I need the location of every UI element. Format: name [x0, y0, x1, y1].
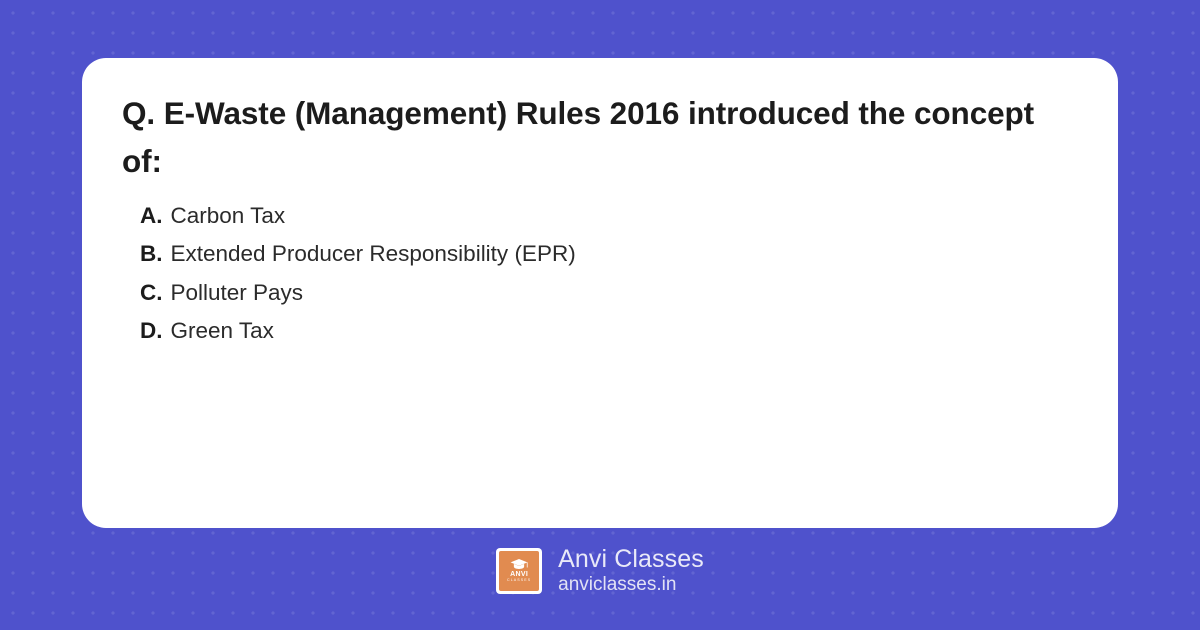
footer-branding: ANVI CLASSES Anvi Classes anviclasses.in	[0, 545, 1200, 597]
brand-name: Anvi Classes	[558, 545, 704, 573]
option-item-a[interactable]: A. Carbon Tax	[122, 200, 1078, 232]
brand-text-block: Anvi Classes anviclasses.in	[558, 545, 704, 597]
option-text-a: Carbon Tax	[171, 200, 286, 232]
question-text: Q. E-Waste (Management) Rules 2016 intro…	[122, 90, 1078, 186]
option-text-b: Extended Producer Responsibility (EPR)	[171, 238, 576, 270]
option-item-b[interactable]: B. Extended Producer Responsibility (EPR…	[122, 238, 1078, 270]
brand-logo-sub: CLASSES	[507, 579, 531, 583]
option-letter-a: A.	[140, 200, 163, 232]
option-text-c: Polluter Pays	[171, 277, 304, 309]
option-letter-d: D.	[140, 315, 163, 347]
option-letter-b: B.	[140, 238, 163, 270]
graduation-cap-icon	[510, 559, 528, 570]
quiz-slide: Q. E-Waste (Management) Rules 2016 intro…	[0, 0, 1200, 630]
brand-logo: ANVI CLASSES	[496, 548, 542, 594]
question-card: Q. E-Waste (Management) Rules 2016 intro…	[82, 58, 1118, 528]
brand-url[interactable]: anviclasses.in	[558, 574, 704, 597]
brand-logo-tile: ANVI CLASSES	[499, 551, 539, 591]
option-item-c[interactable]: C. Polluter Pays	[122, 277, 1078, 309]
options-list: A. Carbon Tax B. Extended Producer Respo…	[122, 200, 1078, 347]
option-text-d: Green Tax	[171, 315, 274, 347]
option-letter-c: C.	[140, 277, 163, 309]
option-item-d[interactable]: D. Green Tax	[122, 315, 1078, 347]
